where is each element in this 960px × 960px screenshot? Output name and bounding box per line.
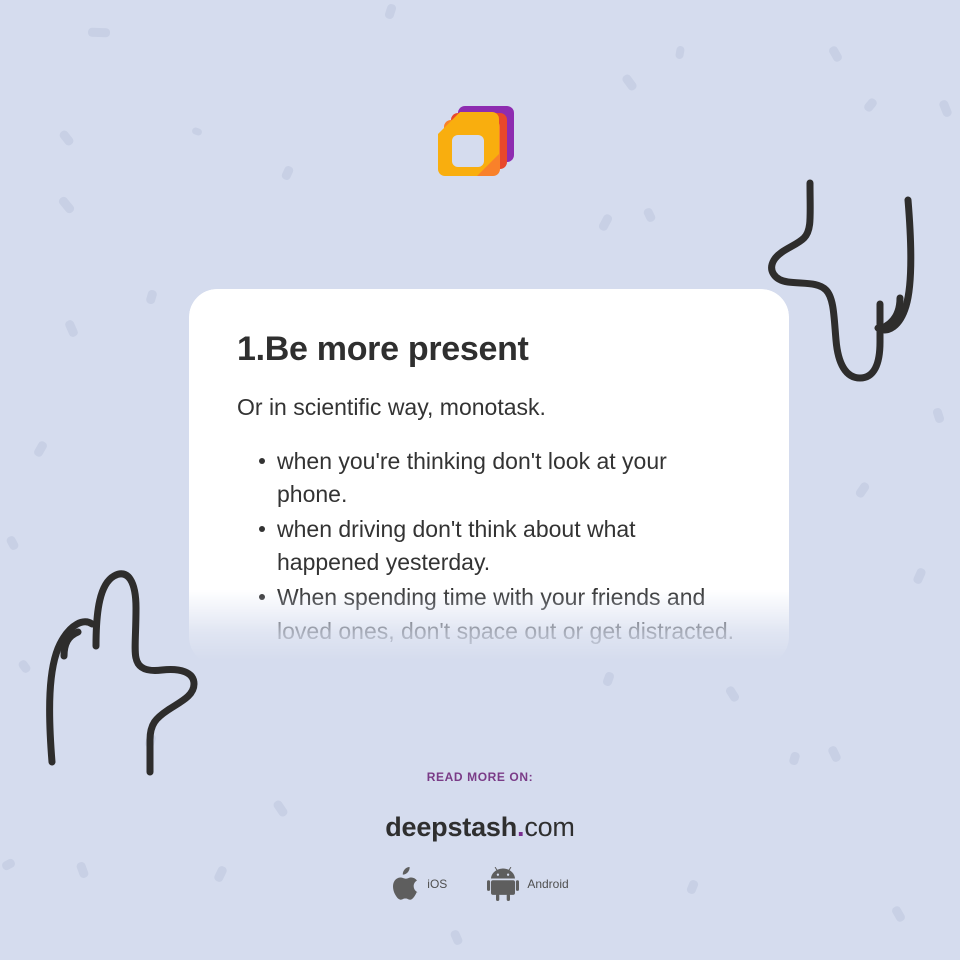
background-speck bbox=[58, 129, 75, 147]
deepstash-logo bbox=[430, 104, 516, 194]
background-speck bbox=[17, 659, 32, 675]
background-speck bbox=[384, 3, 397, 20]
background-speck bbox=[5, 535, 20, 552]
brand-wordmark[interactable]: deepstash.com bbox=[0, 812, 960, 843]
android-store-label: Android bbox=[527, 877, 568, 891]
card-bullet-list: when you're thinking don't look at your … bbox=[237, 445, 741, 648]
idea-card[interactable]: 1.Be more present Or in scientific way, … bbox=[189, 289, 789, 665]
list-item: when you're thinking don't look at your … bbox=[259, 445, 741, 511]
brand-wordmark-name: deepstash bbox=[385, 812, 517, 842]
background-speck bbox=[827, 745, 842, 763]
background-speck bbox=[145, 289, 158, 305]
background-speck bbox=[33, 440, 49, 458]
background-speck bbox=[788, 751, 800, 766]
list-item: When spending time with your friends and… bbox=[259, 581, 741, 647]
list-item: when driving don't think about what happ… bbox=[259, 513, 741, 579]
background-speck bbox=[912, 567, 927, 585]
background-speck bbox=[642, 207, 656, 224]
background-speck bbox=[891, 905, 907, 923]
brand-wordmark-tld: com bbox=[524, 812, 574, 842]
background-speck bbox=[724, 685, 740, 703]
background-speck bbox=[191, 127, 203, 137]
card-title: 1.Be more present bbox=[237, 329, 741, 369]
read-more-label: READ MORE ON: bbox=[0, 770, 960, 784]
ios-store-label: iOS bbox=[427, 877, 447, 891]
background-speck bbox=[449, 929, 463, 946]
background-speck bbox=[598, 213, 614, 232]
android-store-badge[interactable]: Android bbox=[487, 867, 568, 901]
hand-doodle-bottom-left-icon bbox=[22, 562, 202, 782]
background-speck bbox=[828, 45, 844, 63]
background-speck bbox=[621, 73, 638, 92]
apple-icon bbox=[391, 867, 419, 901]
footer: READ MORE ON: deepstash.com iOS Android bbox=[0, 770, 960, 901]
android-icon bbox=[487, 867, 519, 901]
logo-inner-cutout bbox=[452, 135, 484, 167]
background-speck bbox=[863, 97, 879, 114]
ios-store-badge[interactable]: iOS bbox=[391, 867, 447, 901]
card-subtitle: Or in scientific way, monotask. bbox=[237, 393, 741, 423]
store-badges: iOS Android bbox=[0, 867, 960, 901]
background-speck bbox=[88, 28, 110, 38]
background-speck bbox=[932, 407, 945, 424]
background-speck bbox=[854, 481, 870, 499]
background-speck bbox=[602, 671, 615, 687]
background-speck bbox=[938, 99, 953, 118]
background-speck bbox=[280, 165, 294, 181]
background-speck bbox=[57, 195, 75, 215]
background-speck bbox=[675, 45, 685, 59]
background-speck bbox=[144, 733, 157, 749]
background-speck bbox=[64, 319, 79, 338]
